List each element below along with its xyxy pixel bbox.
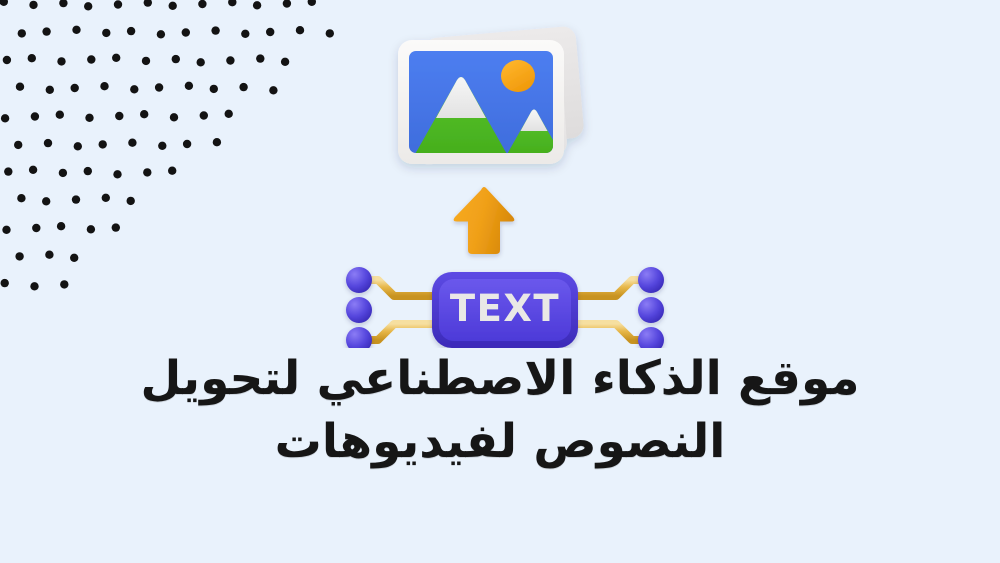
decorative-dot	[87, 55, 95, 63]
decorative-dot	[57, 222, 65, 230]
decorative-dot	[213, 138, 221, 146]
decorative-dot	[142, 57, 150, 65]
decorative-dot	[115, 112, 123, 120]
decorative-dot	[172, 55, 180, 63]
decorative-dot	[84, 2, 92, 10]
decorative-dot	[228, 0, 236, 6]
text-chip-label: TEXT	[450, 287, 560, 330]
circuit-node	[638, 297, 664, 323]
decorative-dot	[326, 29, 334, 37]
circuit-node	[346, 267, 372, 293]
decorative-dot	[283, 0, 291, 8]
decorative-dot	[16, 83, 24, 91]
decorative-dot	[56, 111, 64, 119]
decorative-dot	[60, 280, 68, 288]
decorative-dot	[42, 197, 50, 205]
decorative-dot	[44, 139, 52, 147]
decorative-dot	[45, 251, 53, 259]
decorative-dot	[210, 85, 218, 93]
photo-stack-icon	[398, 26, 585, 166]
decorative-dot	[266, 28, 274, 36]
circuit-traces-left	[362, 280, 438, 340]
decorative-dot	[269, 86, 277, 94]
decorative-dot	[127, 27, 135, 35]
decorative-dot	[127, 197, 135, 205]
decorative-dot	[102, 194, 110, 202]
decorative-dot	[42, 27, 50, 35]
circuit-node	[346, 297, 372, 323]
decorative-dot	[168, 167, 176, 175]
decorative-dot	[74, 142, 82, 150]
decorative-dot	[112, 54, 120, 62]
banner-root: TEXT موقع الذكاء الاصطناعي لتحويل النصوص…	[0, 0, 1000, 563]
decorative-dot	[158, 142, 166, 150]
decorative-dot	[114, 0, 122, 8]
decorative-dot	[169, 2, 177, 10]
decorative-dot	[113, 170, 121, 178]
decorative-dot	[183, 140, 191, 148]
decorative-dot	[59, 169, 67, 177]
decorative-dot	[225, 110, 233, 118]
decorative-dot	[28, 54, 36, 62]
circuit-node	[638, 327, 664, 348]
circuit-node	[638, 267, 664, 293]
decorative-dot	[3, 56, 11, 64]
decorative-dot	[14, 141, 22, 149]
decorative-dot	[71, 84, 79, 92]
decorative-dot	[1, 279, 9, 287]
decorative-dot	[57, 57, 65, 65]
up-arrow-icon	[454, 187, 515, 254]
decorative-dot	[170, 113, 178, 121]
decorative-dot	[157, 30, 165, 38]
circuit-node	[346, 327, 372, 348]
text-chip: TEXT	[346, 267, 664, 348]
decorative-dot	[99, 140, 107, 148]
decorative-dot	[29, 1, 37, 9]
decorative-dot	[226, 56, 234, 64]
decorative-dot	[0, 0, 8, 6]
decorative-dot	[87, 225, 95, 233]
decorative-dot	[72, 195, 80, 203]
decorative-dot	[182, 28, 190, 36]
decorative-dot	[241, 30, 249, 38]
decorative-dot	[130, 85, 138, 93]
decorative-dot	[143, 168, 151, 176]
text-to-image-graphic: TEXT	[340, 18, 670, 348]
decorative-dot	[2, 226, 10, 234]
headline-line-2: النصوص لفيديوهات	[60, 411, 940, 474]
decorative-dot	[281, 58, 289, 66]
decorative-dot	[102, 29, 110, 37]
decorative-dot	[85, 114, 93, 122]
page-title: موقع الذكاء الاصطناعي لتحويل النصوص لفيد…	[0, 348, 1000, 473]
headline-line-1: موقع الذكاء الاصطناعي لتحويل	[60, 348, 940, 411]
decorative-dot	[308, 0, 316, 6]
decorative-dot	[211, 26, 219, 34]
decorative-dot	[70, 254, 78, 262]
decorative-dot	[296, 26, 304, 34]
decorative-dot	[140, 110, 148, 118]
decorative-dot	[18, 29, 26, 37]
decorative-dot	[155, 83, 163, 91]
decorative-dot	[15, 252, 23, 260]
decorative-dot	[1, 114, 9, 122]
decorative-dot	[59, 0, 67, 7]
decorative-dot	[144, 0, 152, 7]
decorative-dot	[100, 82, 108, 90]
decorative-dot	[256, 54, 264, 62]
decorative-dot	[30, 282, 38, 290]
decorative-dot	[128, 139, 136, 147]
decorative-dot	[32, 224, 40, 232]
decorative-dot	[17, 194, 25, 202]
decorative-dot	[46, 86, 54, 94]
decorative-dot	[4, 167, 12, 175]
dot-pattern-decoration	[0, 0, 340, 300]
decorative-dot	[200, 111, 208, 119]
decorative-dot	[112, 223, 120, 231]
decorative-dot	[84, 167, 92, 175]
decorative-dot	[185, 82, 193, 90]
circuit-traces-right	[572, 280, 648, 340]
decorative-dot	[198, 0, 206, 8]
decorative-dot	[253, 1, 261, 9]
decorative-dot	[239, 83, 247, 91]
decorative-dot	[29, 166, 37, 174]
decorative-dot	[31, 112, 39, 120]
decorative-dot	[72, 26, 80, 34]
decorative-dot	[197, 58, 205, 66]
